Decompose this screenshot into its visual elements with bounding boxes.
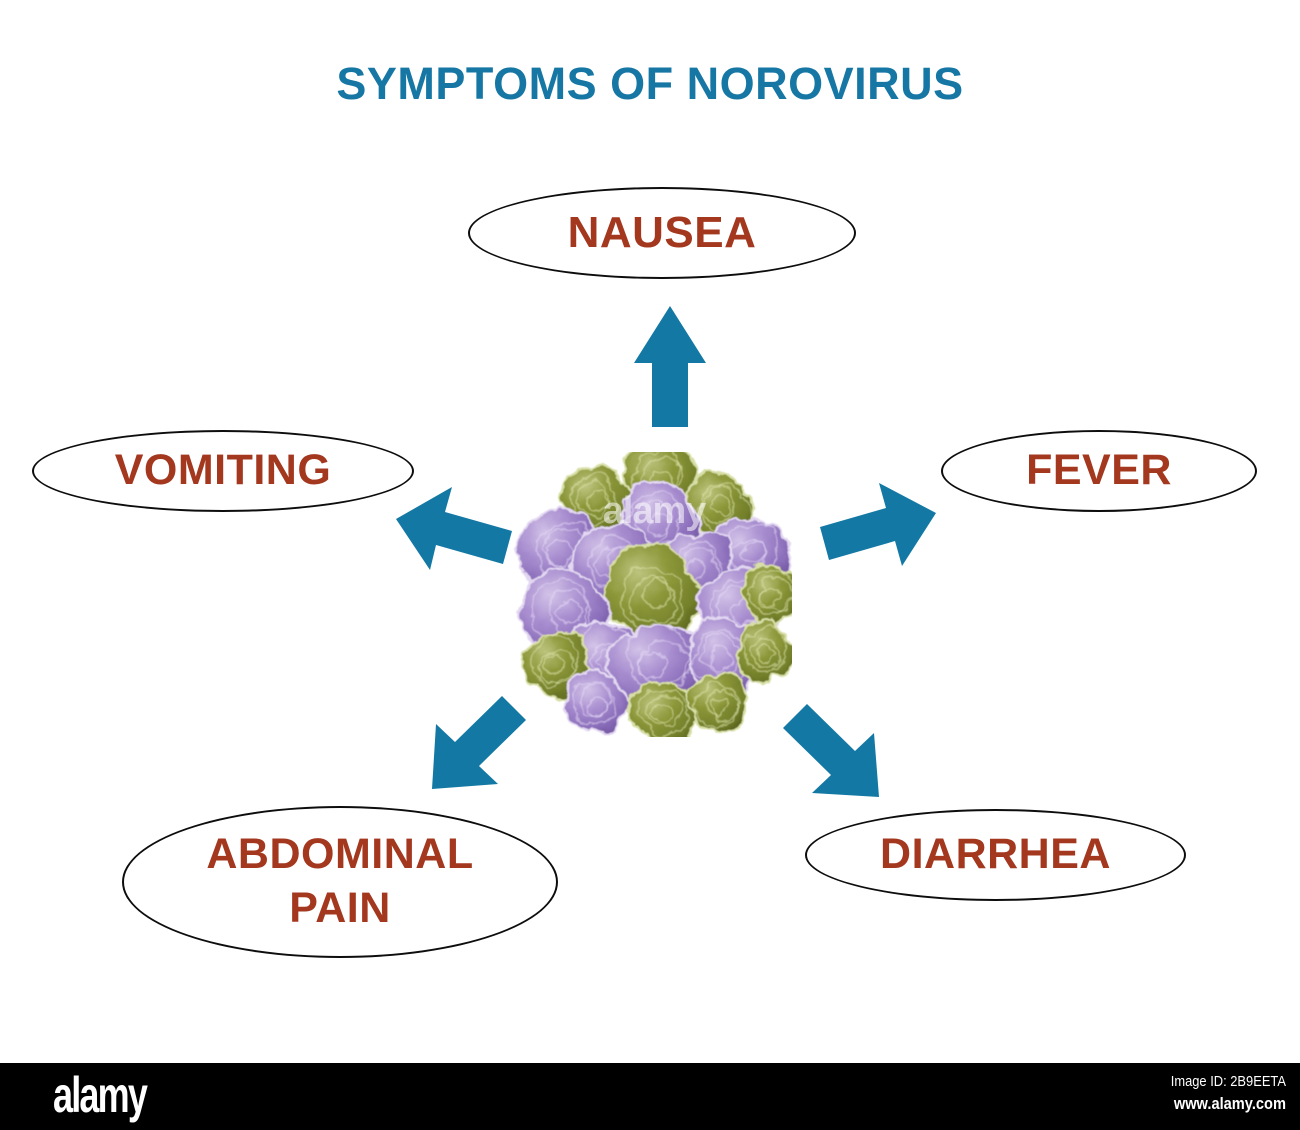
norovirus-particle-image: alamy [512,452,792,737]
symptom-label-abdominal-pain: ABDOMINAL PAIN [200,828,479,936]
symptom-label-nausea: NAUSEA [562,210,763,257]
symptom-node-diarrhea[interactable]: DIARRHEA [805,809,1186,901]
arrow-lower-right-diarrhea [783,704,879,797]
diagram-canvas: SYMPTOMS OF NOROVIRUS [0,0,1300,1063]
capsomere-cluster [517,452,792,737]
arrow-upper-left-vomiting [396,487,512,570]
virus-capsid-svg [512,452,792,737]
watermark-footer-bar: alamy Image ID: 2B9EETA www.alamy.com [0,1063,1300,1130]
symptom-node-fever[interactable]: FEVER [941,430,1257,512]
infographic-page: SYMPTOMS OF NOROVIRUS [0,0,1300,1130]
symptom-label-vomiting: VOMITING [109,448,338,494]
arrow-upper-right-fever [820,483,936,566]
image-id-text: Image ID: 2B9EETA [1171,1072,1286,1092]
alamy-logo: alamy [53,1069,146,1121]
symptom-label-fever: FEVER [1020,448,1178,494]
symptom-node-nausea[interactable]: NAUSEA [468,187,856,279]
symptom-node-abdominal-pain[interactable]: ABDOMINAL PAIN [122,806,558,958]
page-title: SYMPTOMS OF NOROVIRUS [0,58,1300,110]
footer-meta: Image ID: 2B9EETA www.alamy.com [1152,1072,1286,1116]
alamy-url-text: www.alamy.com [1171,1092,1286,1116]
arrow-up-nausea [634,306,706,427]
symptom-node-vomiting[interactable]: VOMITING [32,430,414,512]
symptom-label-diarrhea: DIARRHEA [874,832,1117,878]
